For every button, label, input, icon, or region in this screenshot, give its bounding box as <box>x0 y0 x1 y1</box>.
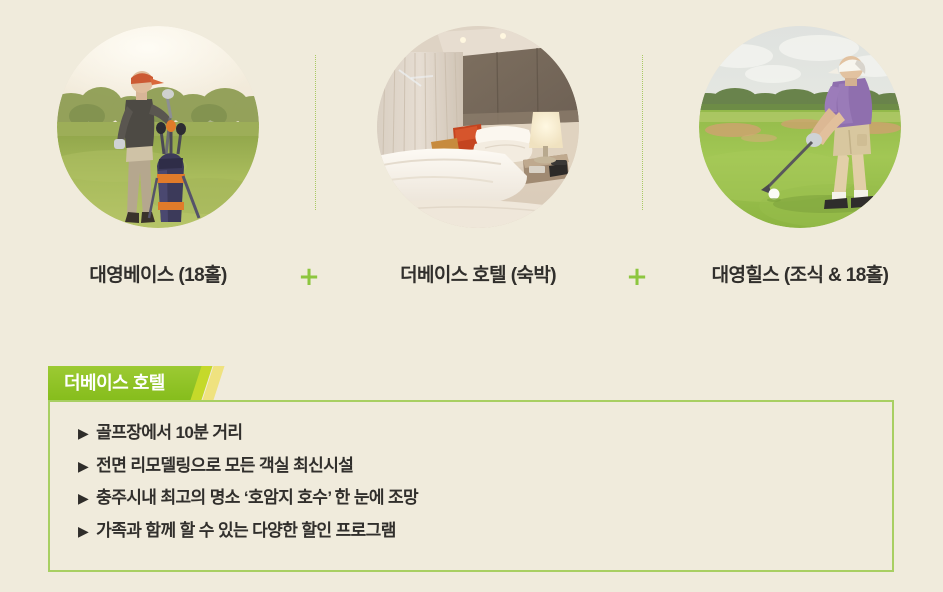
divider-dotted-2 <box>642 55 643 210</box>
list-item-label: 가족과 함께 할 수 있는 다양한 할인 프로그램 <box>96 522 396 541</box>
hotel-feature-box: ▶ 골프장에서 10분 거리 ▶ 전면 리모델링으로 모든 객실 최신시설 ▶ … <box>48 400 894 572</box>
list-item: ▶ 가족과 함께 할 수 있는 다양한 할인 프로그램 <box>78 522 892 541</box>
package-row: 대영베이스 (18홀) <box>0 0 943 310</box>
triangle-bullet-icon: ▶ <box>78 525 88 540</box>
hotel-info-tab: 더베이스 호텔 <box>48 366 238 400</box>
plus-separator-2: + <box>624 264 650 290</box>
hotel-room-photo <box>377 26 579 228</box>
hotel-info-tab-label: 더베이스 호텔 <box>64 366 165 400</box>
package-item-daeyoung-hills[interactable]: 대영힐스 (조식 & 18홀) <box>694 26 906 228</box>
package-caption: 더베이스 호텔 (숙박) <box>400 266 556 285</box>
list-item: ▶ 골프장에서 10분 거리 <box>78 424 892 443</box>
golfer-with-bag-photo <box>57 26 259 228</box>
list-item-label: 골프장에서 10분 거리 <box>96 424 242 443</box>
list-item: ▶ 충주시내 최고의 명소 ‘호암지 호수’ 한 눈에 조망 <box>78 489 892 508</box>
triangle-bullet-icon: ▶ <box>78 492 88 507</box>
hotel-info-panel: 더베이스 호텔 ▶ 골프장에서 10분 거리 ▶ 전면 리모델링으로 모든 객실… <box>48 366 898 572</box>
package-caption: 대영힐스 (조식 & 18홀) <box>712 266 889 285</box>
triangle-bullet-icon: ▶ <box>78 460 88 475</box>
list-item-label: 충주시내 최고의 명소 ‘호암지 호수’ 한 눈에 조망 <box>96 489 418 508</box>
package-item-the-base-hotel[interactable]: 더베이스 호텔 (숙박) <box>372 26 584 228</box>
list-item: ▶ 전면 리모델링으로 모든 객실 최신시설 <box>78 457 892 476</box>
golfer-teeing-off-photo <box>699 26 901 228</box>
plus-separator-1: + <box>296 264 322 290</box>
package-caption: 대영베이스 (18홀) <box>89 266 226 285</box>
hotel-feature-list: ▶ 골프장에서 10분 거리 ▶ 전면 리모델링으로 모든 객실 최신시설 ▶ … <box>50 402 892 541</box>
package-item-daeyoung-base[interactable]: 대영베이스 (18홀) <box>52 26 264 228</box>
triangle-bullet-icon: ▶ <box>78 427 88 442</box>
list-item-label: 전면 리모델링으로 모든 객실 최신시설 <box>96 457 353 476</box>
divider-dotted-1 <box>315 55 316 210</box>
